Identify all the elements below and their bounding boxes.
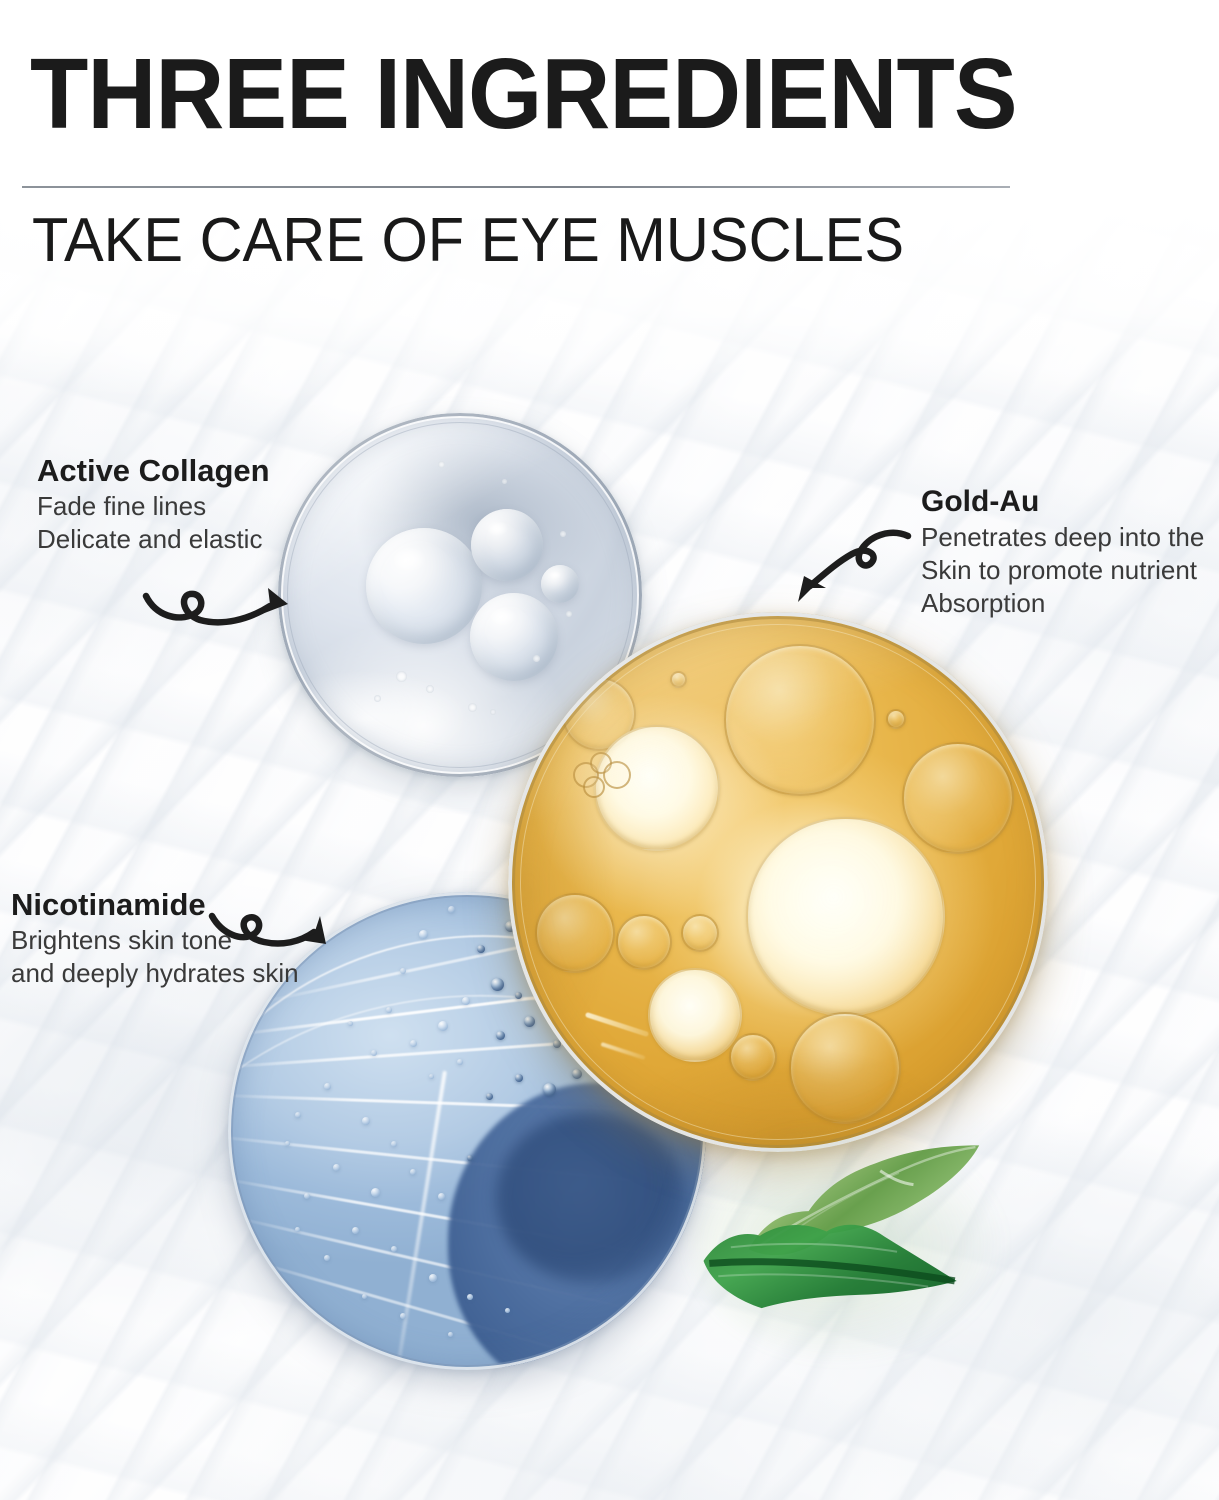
dish-gold-au xyxy=(508,612,1048,1152)
water-bead xyxy=(352,1227,359,1234)
nicotinamide-dark-core xyxy=(496,1112,687,1284)
water-bead xyxy=(285,1141,290,1146)
label-active-collagen: Active Collagen Fade fine lines Delicate… xyxy=(37,452,270,556)
page-subtitle: TAKE CARE OF EYE MUSCLES xyxy=(32,206,1040,276)
label-gold-au: Gold-Au Penetrates deep into the Skin to… xyxy=(921,483,1204,620)
label-nicotinamide: Nicotinamide Brightens skin tone and dee… xyxy=(11,886,299,990)
ingredient-title: Gold-Au xyxy=(921,483,1204,521)
water-bead xyxy=(391,1141,397,1147)
water-bead xyxy=(491,978,504,991)
water-bead xyxy=(572,1069,582,1079)
water-bead xyxy=(410,1169,416,1175)
water-bead xyxy=(467,1294,473,1300)
leaf-icon xyxy=(695,1187,967,1335)
water-bead xyxy=(386,1007,392,1013)
water-bead xyxy=(400,1313,406,1319)
water-bead xyxy=(391,1246,397,1252)
ingredient-line: Skin to promote nutrient xyxy=(921,554,1204,587)
water-bead xyxy=(486,1093,493,1100)
infographic-canvas: THREE INGREDIENTS TAKE CARE OF EYE MUSCL… xyxy=(0,0,1219,1500)
water-bead xyxy=(324,1255,330,1261)
ingredient-line: and deeply hydrates skin xyxy=(11,957,299,990)
curly-arrow-right-icon xyxy=(140,562,300,652)
water-bead xyxy=(429,1074,434,1079)
ingredient-line: Absorption xyxy=(921,587,1204,620)
ingredient-title: Active Collagen xyxy=(37,452,270,490)
water-bead xyxy=(477,945,485,953)
water-bead xyxy=(295,1112,301,1118)
ingredient-line: Penetrates deep into the xyxy=(921,521,1204,554)
water-bead xyxy=(496,1031,505,1040)
water-bead xyxy=(448,1332,453,1337)
ingredient-line: Fade fine lines xyxy=(37,490,270,523)
curly-arrow-down-left-icon xyxy=(786,524,916,624)
ingredient-line: Delicate and elastic xyxy=(37,523,270,556)
water-bead xyxy=(515,1074,523,1082)
water-bead xyxy=(324,1083,331,1090)
title-divider xyxy=(22,186,1010,188)
water-bead xyxy=(467,1155,473,1161)
water-bead xyxy=(362,1294,367,1299)
water-bead xyxy=(295,1227,300,1232)
ingredient-line: Brightens skin tone xyxy=(11,924,299,957)
water-bead xyxy=(348,1021,353,1026)
ingredient-title: Nicotinamide xyxy=(11,886,299,924)
gold-inner-rim xyxy=(520,624,1036,1140)
water-bead xyxy=(410,1040,417,1047)
water-bead xyxy=(362,1117,370,1125)
green-leaves xyxy=(700,1120,1030,1410)
page-title: THREE INGREDIENTS xyxy=(30,44,985,144)
